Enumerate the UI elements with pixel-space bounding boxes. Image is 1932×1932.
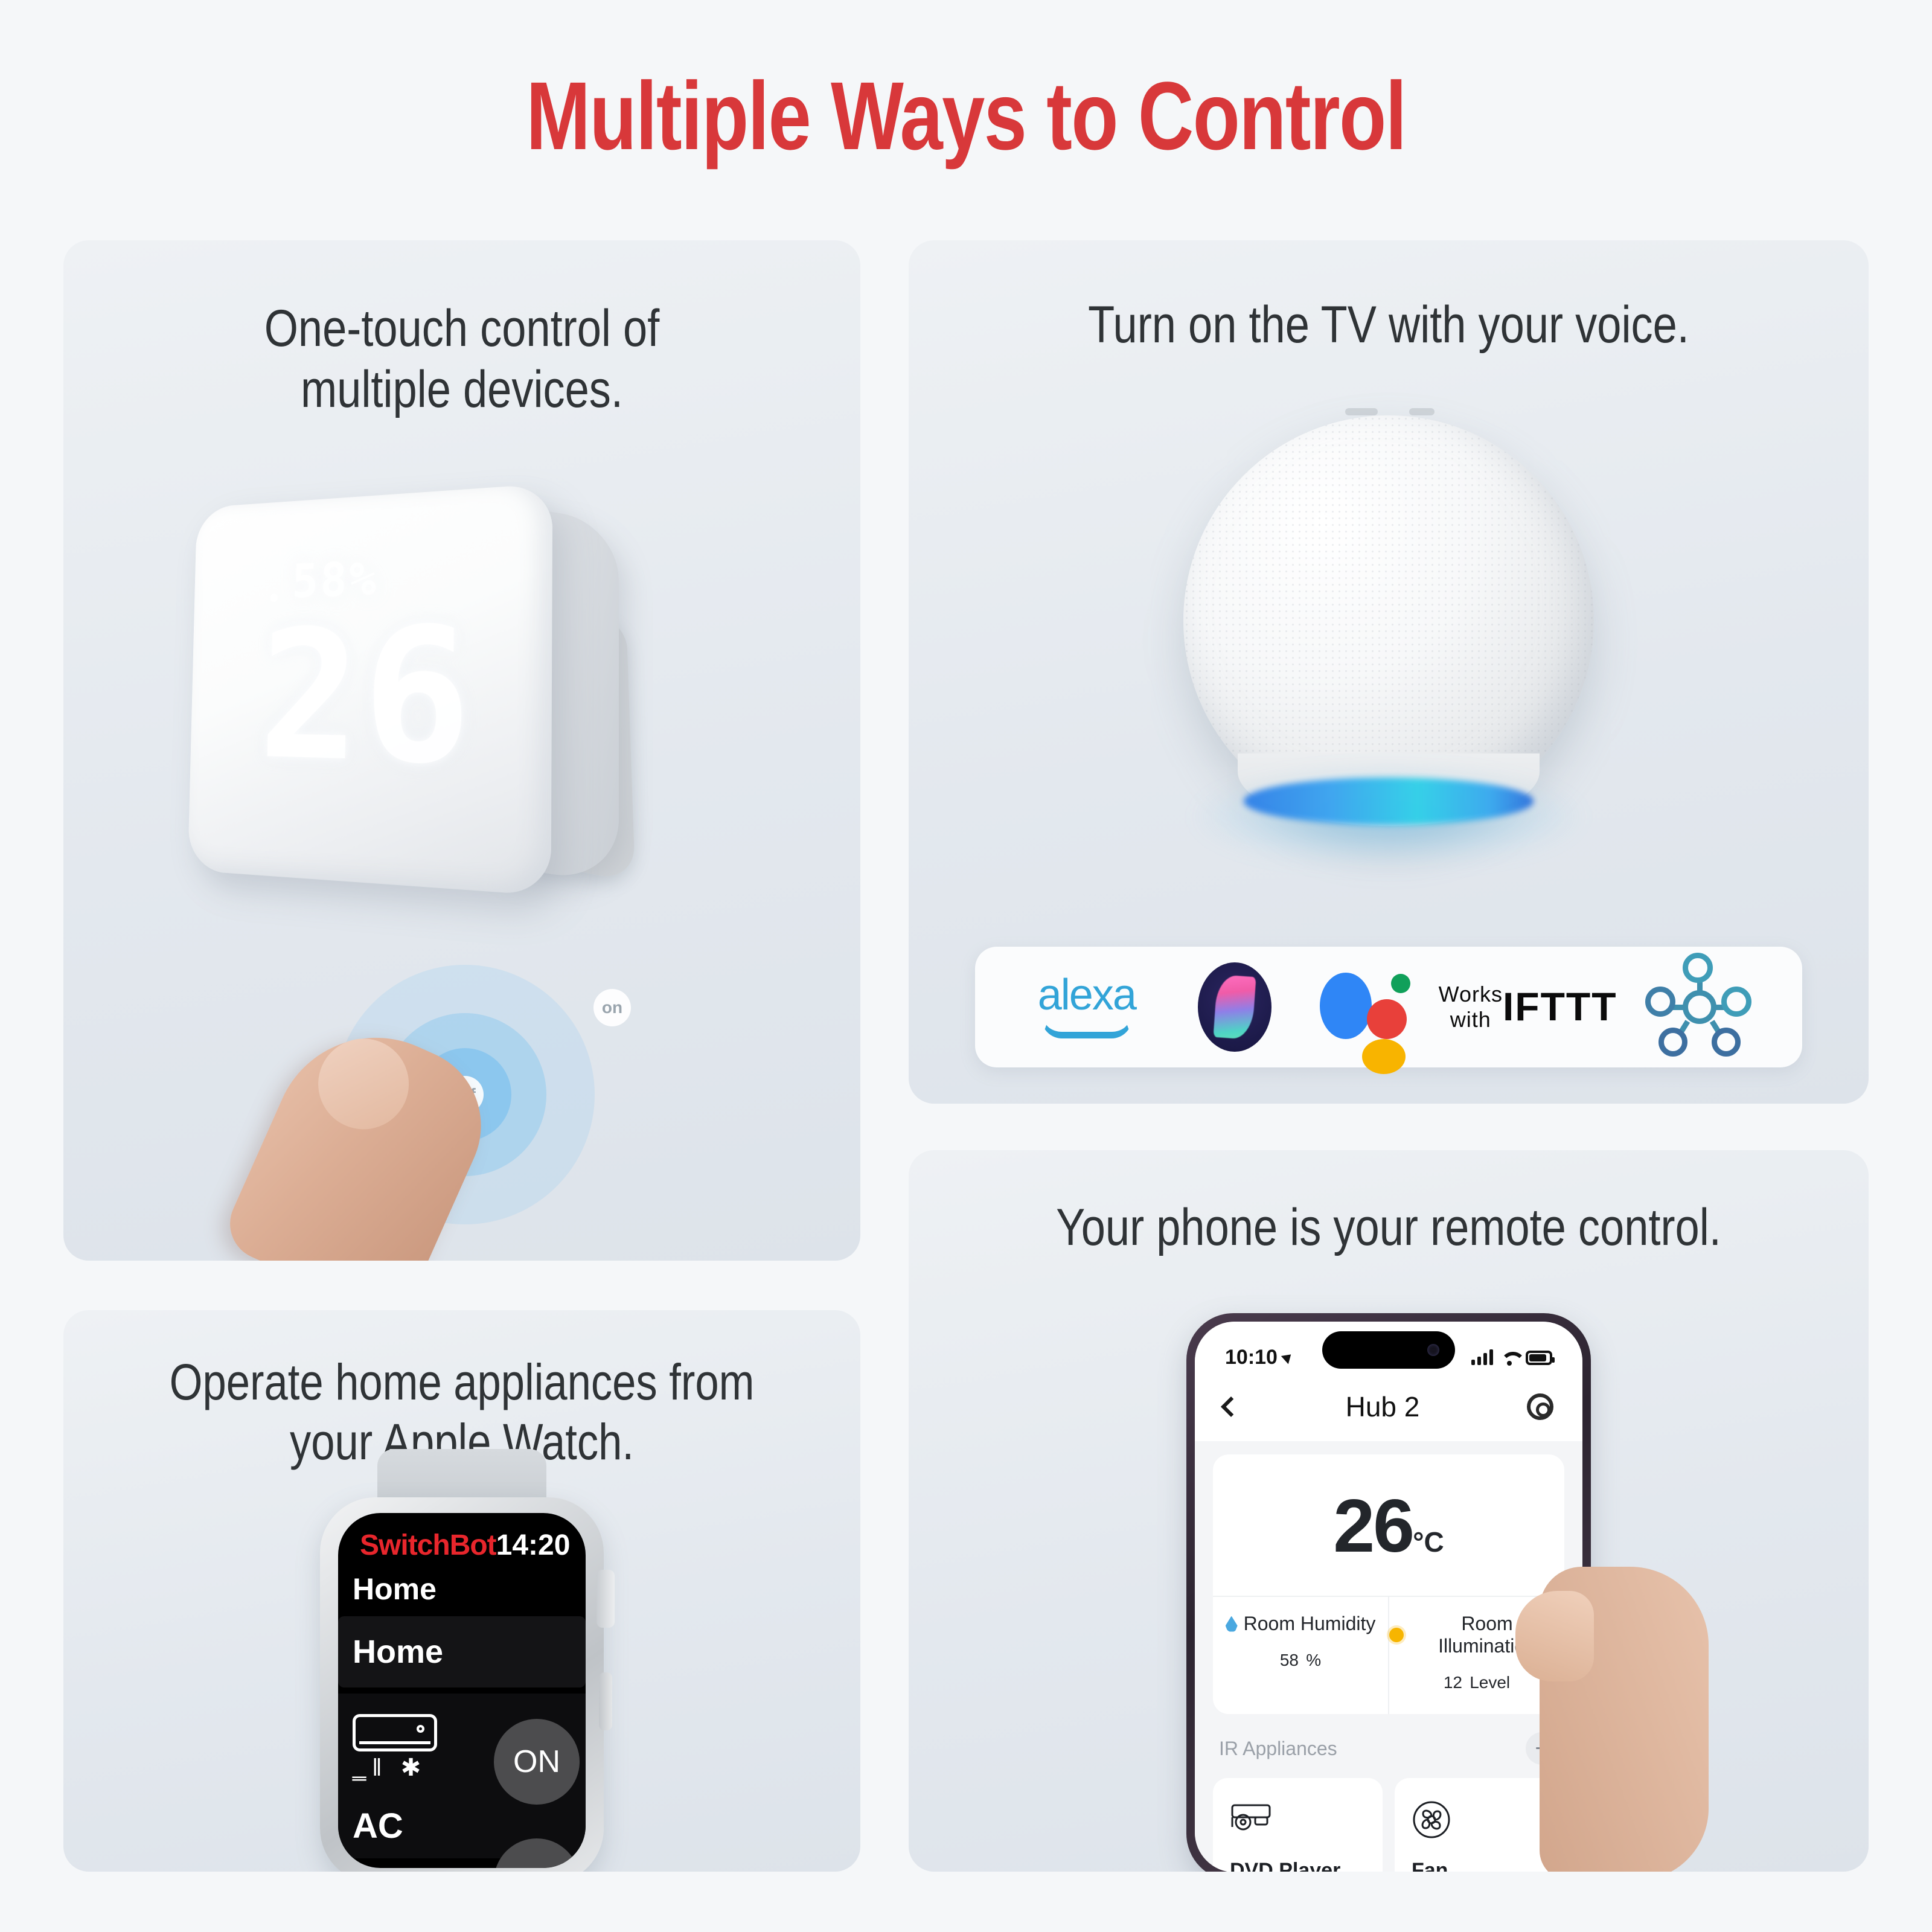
echo-top-button-2 (1409, 408, 1435, 415)
watch-case: SwitchBot 14:20 Home Home ‗‖ ✱ AC ON (320, 1497, 604, 1872)
location-arrow-icon (1281, 1351, 1294, 1364)
ir-appliances-header: IR Appliances + (1213, 1714, 1564, 1778)
sensor-humidity-value-group: 58 % (1213, 1642, 1388, 1672)
temperature-value: 26 (1333, 1485, 1413, 1568)
alexa-logo-text: alexa (1038, 976, 1136, 1015)
phone-clock: 10:10 (1225, 1346, 1278, 1369)
phone-status-bar: 10:10 (1195, 1322, 1582, 1377)
phone-page-title: Hub 2 (1346, 1390, 1420, 1423)
battery-icon (1526, 1351, 1552, 1365)
panel-heading-voice: Turn on the TV with your voice. (985, 295, 1792, 356)
matter-node-center (1683, 990, 1716, 1024)
watch-screen: SwitchBot 14:20 Home Home ‗‖ ✱ AC ON (338, 1513, 586, 1868)
temperature-readout: 26°C (1213, 1454, 1564, 1596)
watch-clock: 14:20 (496, 1529, 571, 1562)
phone-status-time-group: 10:10 (1225, 1346, 1292, 1369)
watch-home-row-label: Home (353, 1633, 571, 1671)
sensor-humidity-unit: % (1306, 1651, 1321, 1669)
gassist-dot-red (1367, 999, 1407, 1039)
environment-card: 26°C Room Humidity 58 % (1213, 1454, 1564, 1714)
sensor-humidity-value: 58 (1280, 1651, 1299, 1669)
matter-node-top (1683, 953, 1713, 983)
appliance-label-fan: Fan (1412, 1859, 1547, 1872)
panel-heading-phone: Your phone is your remote control. (985, 1197, 1792, 1258)
matter-logo (1645, 953, 1754, 1061)
phone-screen: 10:10 Hub 2 (1195, 1322, 1582, 1872)
sensor-illumination-unit: Level (1470, 1673, 1510, 1692)
google-assistant-logo (1320, 962, 1410, 1052)
gassist-dot-blue (1320, 973, 1372, 1039)
appliance-label-dvd-player: DVD Player (1230, 1859, 1366, 1872)
ir-appliances-grid: DVD Player Fan Projector (1213, 1778, 1564, 1872)
alexa-logo: alexa (1023, 976, 1150, 1039)
hand-pointing-at-phone (1540, 1567, 1709, 1872)
phone-status-icons (1471, 1349, 1552, 1365)
matter-node-bottom-left (1659, 1028, 1687, 1057)
echo-top-button-1 (1345, 408, 1378, 415)
sensor-illumination-value: 12 (1444, 1673, 1462, 1692)
hub2-led-screen: 58% 26 (223, 505, 501, 860)
ir-appliances-title: IR Appliances (1219, 1738, 1337, 1760)
hub2-device-photo: 58% 26 on off (63, 421, 860, 1261)
panel-one-touch-control: One-touch control of multiple devices. 5… (63, 240, 860, 1261)
watch-home-row[interactable]: Home (338, 1616, 586, 1687)
ac-airflow-glyphs: ‗‖ ✱ (353, 1754, 443, 1782)
fan-icon (1412, 1796, 1547, 1843)
sensor-humidity-label: Room Humidity (1244, 1613, 1376, 1635)
gear-icon[interactable] (1527, 1393, 1553, 1420)
watch-status-bar: SwitchBot 14:20 (338, 1513, 586, 1568)
siri-logo (1198, 962, 1271, 1052)
siri-icon (1198, 962, 1271, 1052)
panel-voice-control: Turn on the TV with your voice. alexa (909, 240, 1869, 1104)
ifttt-works-with-text: Works with (1439, 982, 1503, 1032)
switchbot-app-name: SwitchBot (360, 1529, 496, 1562)
iphone-device: 10:10 Hub 2 (1186, 1313, 1591, 1872)
matter-node-right (1721, 987, 1751, 1017)
chevron-left-icon[interactable] (1221, 1396, 1241, 1417)
panel-heading-touch: One-touch control of multiple devices. (127, 298, 797, 421)
temperature-unit: °C (1413, 1526, 1444, 1558)
echo-led-ring (1244, 778, 1534, 825)
siri-gradient-shape (1214, 974, 1256, 1040)
dvd-player-icon (1230, 1796, 1366, 1843)
google-assistant-icon (1320, 962, 1410, 1052)
watch-screen-header: Home (338, 1568, 586, 1616)
panel-phone-remote: Your phone is your remote control. 10:10 (909, 1150, 1869, 1872)
apple-watch-photo: SwitchBot 14:20 Home Home ‗‖ ✱ AC ON (63, 1449, 860, 1872)
phone-photo: 10:10 Hub 2 (909, 1313, 1869, 1872)
hub2-on-button[interactable]: on (593, 989, 631, 1026)
hub2-temperature-readout: 26 (258, 612, 475, 782)
echo-dot-photo (909, 391, 1869, 935)
watch-digital-crown[interactable] (597, 1570, 615, 1628)
sensor-row: Room Humidity 58 % Room Illu (1213, 1596, 1564, 1714)
alexa-smile-icon (1041, 1018, 1132, 1038)
ecosystem-logo-bar: alexa Works with IFTTT (975, 947, 1802, 1067)
matter-node-bottom-right (1712, 1028, 1741, 1057)
matter-node-left (1645, 987, 1675, 1017)
sensor-humidity-head: Room Humidity (1213, 1613, 1388, 1635)
ifttt-logo: Works with IFTTT (1459, 982, 1598, 1032)
watch-side-button[interactable] (599, 1672, 612, 1730)
air-conditioner-icon: ‗‖ ✱ (353, 1714, 443, 1782)
wifi-icon (1500, 1351, 1518, 1365)
gassist-dot-green (1391, 974, 1410, 993)
ac-indicator-dot (417, 1725, 424, 1733)
page-title: Multiple Ways to Control (193, 68, 1739, 164)
dynamic-island (1322, 1331, 1455, 1369)
ifttt-wordmark: IFTTT (1503, 986, 1617, 1028)
appliance-card-fan[interactable]: Fan (1395, 1778, 1564, 1872)
watch-on-button[interactable]: ON (494, 1719, 580, 1805)
cellular-bars-icon (1471, 1349, 1493, 1365)
sun-icon (1389, 1628, 1404, 1642)
gassist-dot-yellow (1362, 1039, 1406, 1074)
appliance-card-dvd-player[interactable]: DVD Player (1213, 1778, 1383, 1872)
watch-device-row: ‗‖ ✱ AC ON OFF (338, 1694, 586, 1858)
panel-apple-watch: Operate home appliances from your Apple … (63, 1310, 860, 1872)
matter-icon (1645, 953, 1754, 1061)
phone-nav-bar: Hub 2 (1195, 1377, 1582, 1441)
sensor-humidity: Room Humidity 58 % (1213, 1597, 1388, 1714)
water-drop-icon (1226, 1616, 1238, 1632)
